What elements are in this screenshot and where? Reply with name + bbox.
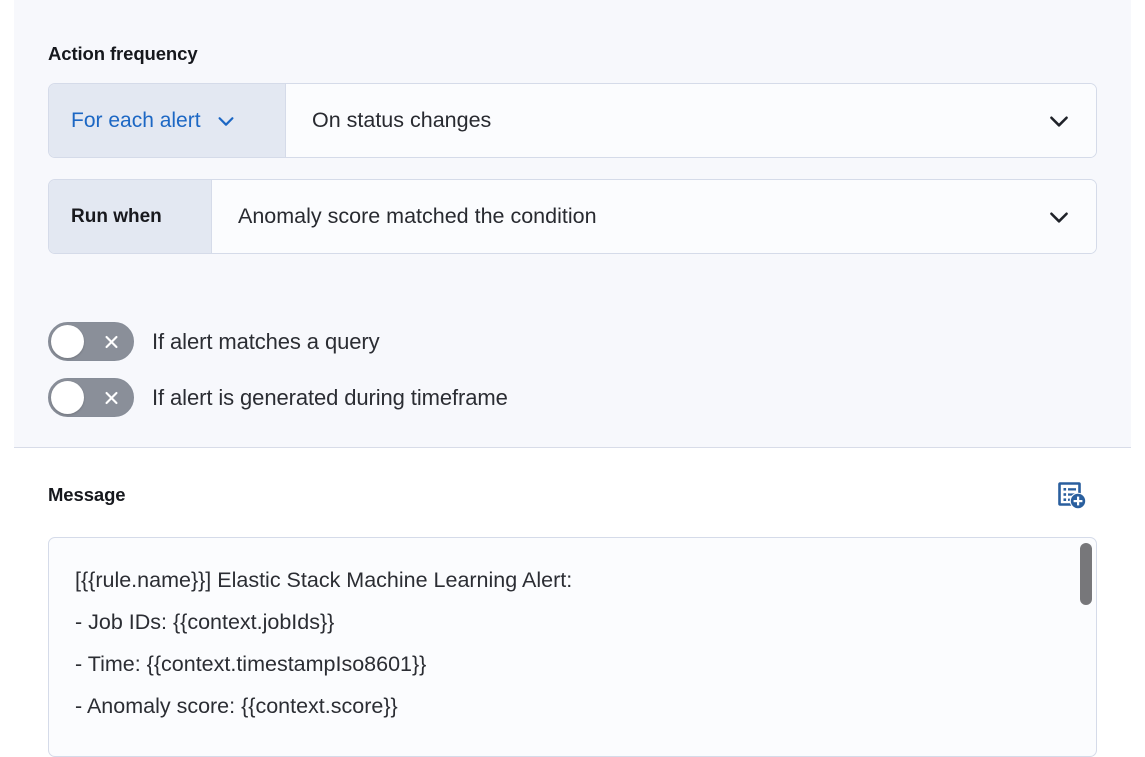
message-scrollbar-track[interactable] xyxy=(1080,540,1092,754)
run-when-select[interactable]: Anomaly score matched the condition xyxy=(212,180,1096,253)
chevron-down-icon xyxy=(1046,108,1072,134)
add-variable-button[interactable] xyxy=(1055,479,1089,513)
action-configuration-panel: Action frequency For each alert On statu… xyxy=(0,0,1145,757)
alert-timeframe-label: If alert is generated during timeframe xyxy=(152,385,508,411)
alert-timeframe-row: If alert is generated during timeframe xyxy=(48,378,508,417)
for-each-alert-dropdown[interactable]: For each alert xyxy=(49,84,286,157)
cross-icon xyxy=(103,389,120,406)
cross-icon xyxy=(103,333,120,350)
action-frequency-row: For each alert On status changes xyxy=(48,83,1097,158)
chevron-down-icon xyxy=(215,110,237,132)
toggle-knob xyxy=(51,381,84,414)
toggle-knob xyxy=(51,325,84,358)
add-variable-icon xyxy=(1056,480,1088,512)
alert-matches-query-toggle[interactable] xyxy=(48,322,134,361)
run-when-select-value: Anomaly score matched the condition xyxy=(238,204,597,229)
status-change-select-value: On status changes xyxy=(312,108,491,133)
run-when-row: Run when Anomaly score matched the condi… xyxy=(48,179,1097,254)
message-section: Message xyxy=(14,449,1131,757)
panel-body: Action frequency For each alert On statu… xyxy=(14,0,1131,757)
alert-matches-query-row: If alert matches a query xyxy=(48,322,379,361)
message-scrollbar-thumb[interactable] xyxy=(1080,543,1092,605)
message-label: Message xyxy=(48,484,125,506)
status-change-select[interactable]: On status changes xyxy=(286,84,1096,157)
message-textarea-value: [{{rule.name}}] Elastic Stack Machine Le… xyxy=(75,559,1062,727)
alert-matches-query-label: If alert matches a query xyxy=(152,329,379,355)
action-frequency-title: Action frequency xyxy=(48,43,198,65)
run-when-label-prepend: Run when xyxy=(49,180,212,253)
chevron-down-icon xyxy=(1046,204,1072,230)
message-textarea[interactable]: [{{rule.name}}] Elastic Stack Machine Le… xyxy=(48,537,1097,757)
action-frequency-section: Action frequency For each alert On statu… xyxy=(14,0,1131,448)
for-each-alert-label: For each alert xyxy=(71,109,201,133)
alert-timeframe-toggle[interactable] xyxy=(48,378,134,417)
run-when-label: Run when xyxy=(71,206,162,228)
